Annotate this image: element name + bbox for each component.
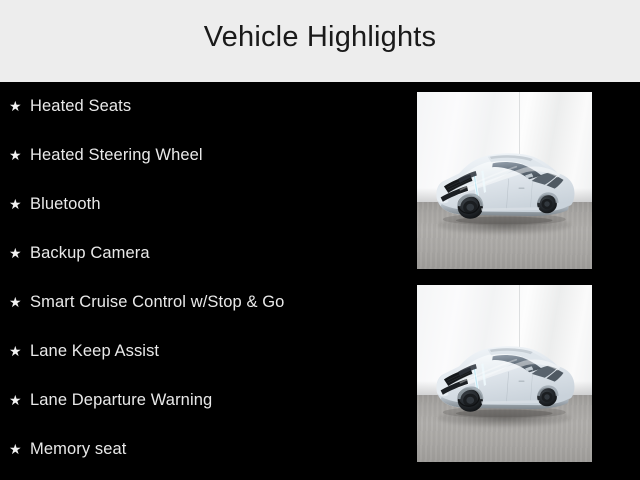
list-item: ★ Memory seat [0, 425, 410, 474]
list-item: ★ Bluetooth [0, 180, 410, 229]
feature-label: Backup Camera [30, 229, 150, 278]
page-title: Vehicle Highlights [0, 19, 640, 55]
list-item: ★ Lane Keep Assist [0, 327, 410, 376]
feature-label: Lane Keep Assist [30, 327, 159, 376]
feature-label: Heated Seats [30, 82, 131, 131]
slide-header-band: Vehicle Highlights [0, 0, 640, 82]
list-item: ★ Backup Camera [0, 229, 410, 278]
slide-body: ★ Heated Seats ★ Heated Steering Wheel ★… [0, 82, 640, 480]
star-icon: ★ [9, 376, 30, 425]
list-item: ★ Lane Departure Warning [0, 376, 410, 425]
star-icon: ★ [9, 278, 30, 327]
list-item: ★ Heated Steering Wheel [0, 131, 410, 180]
vehicle-feature-list: ★ Heated Seats ★ Heated Steering Wheel ★… [0, 82, 410, 474]
feature-label: Lane Departure Warning [30, 376, 212, 425]
star-icon: ★ [9, 229, 30, 278]
feature-label: Bluetooth [30, 180, 101, 229]
star-icon: ★ [9, 82, 30, 131]
vehicle-highlights-slide: Vehicle Highlights ★ Heated Seats ★ Heat… [0, 0, 640, 480]
vehicle-photo-front-three-quarter-2 [417, 285, 592, 462]
feature-label: Heated Steering Wheel [30, 131, 203, 180]
feature-label: Smart Cruise Control w/Stop & Go [30, 278, 284, 327]
star-icon: ★ [9, 131, 30, 180]
star-icon: ★ [9, 180, 30, 229]
cadillac-ct4-illustration [422, 324, 587, 434]
star-icon: ★ [9, 425, 30, 474]
feature-label: Memory seat [30, 425, 126, 474]
list-item: ★ Smart Cruise Control w/Stop & Go [0, 278, 410, 327]
star-icon: ★ [9, 327, 30, 376]
vehicle-photo-front-three-quarter-1 [417, 92, 592, 269]
list-item: ★ Heated Seats [0, 82, 410, 131]
cadillac-ct4-illustration [422, 131, 587, 241]
